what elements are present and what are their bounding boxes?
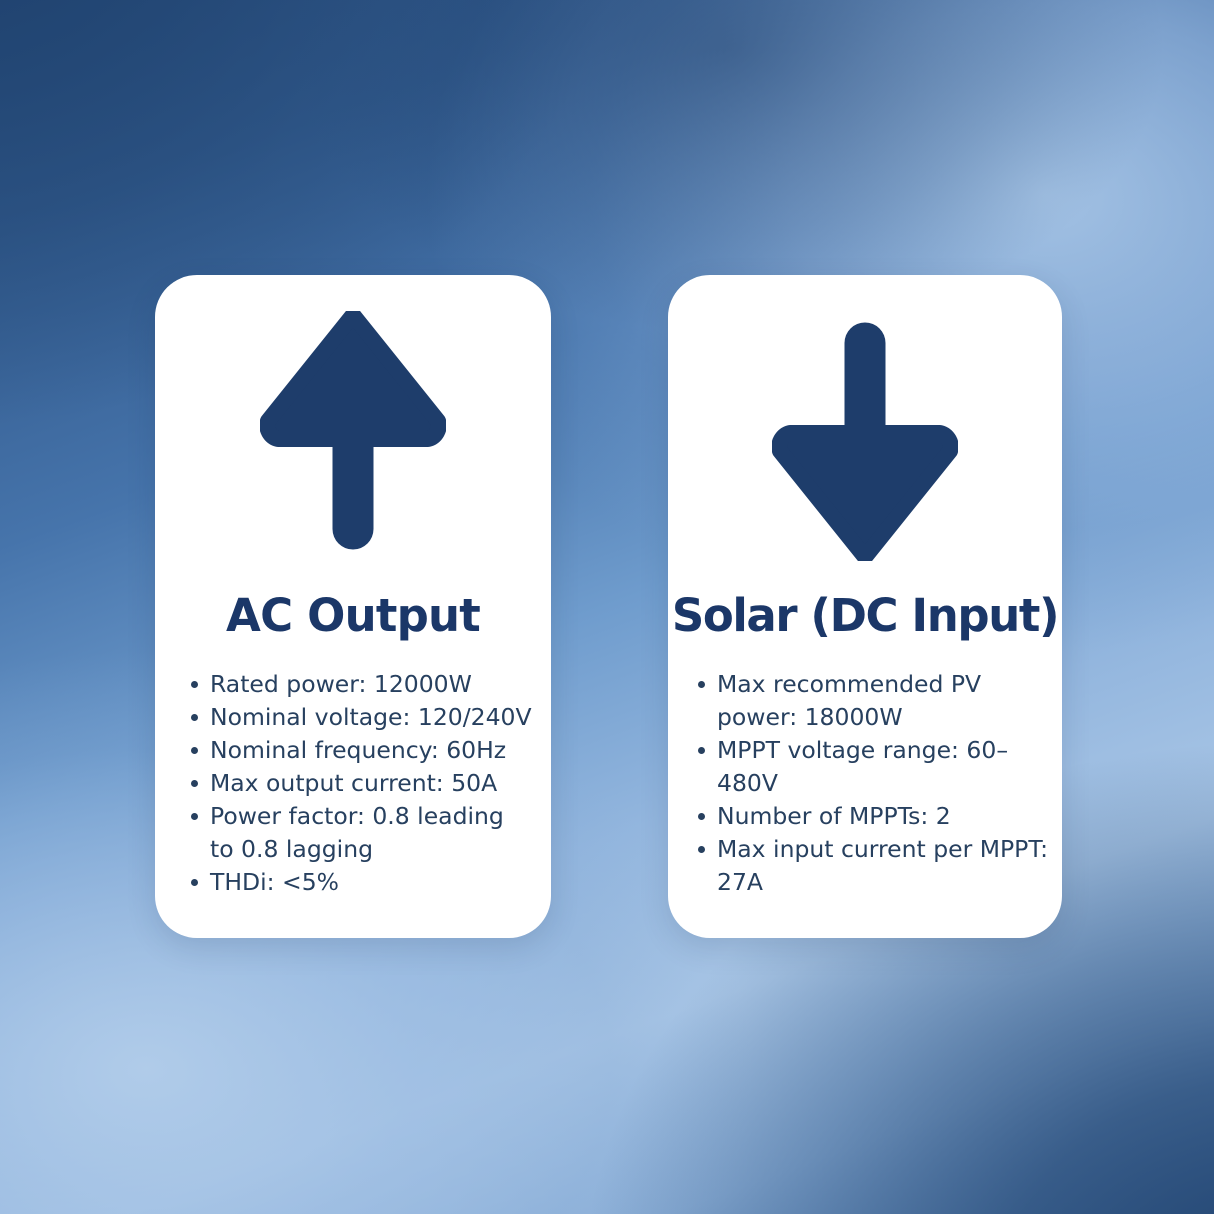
- spec-list-item: Power factor: 0.8 leading to 0.8 lagging: [183, 800, 533, 866]
- spec-list-item: Nominal frequency: 60Hz: [183, 734, 533, 767]
- bullet-marker: [191, 780, 198, 787]
- spec-list-item: Max output current: 50A: [183, 767, 533, 800]
- bullet-marker: [191, 879, 198, 886]
- spec-card-solar-dc-input: Solar (DC Input) Max recommended PV powe…: [668, 275, 1062, 938]
- spec-list-solar-dc-input: Max recommended PV power: 18000W MPPT vo…: [690, 668, 1060, 899]
- bullet-marker: [698, 681, 705, 688]
- spec-text: Nominal voltage: 120/240V: [210, 701, 533, 734]
- spec-card-ac-output: AC Output Rated power: 12000W Nominal vo…: [155, 275, 551, 938]
- arrow-up-icon: [155, 311, 551, 559]
- card-title-ac-output: AC Output: [155, 588, 551, 644]
- spec-list-item: Number of MPPTs: 2: [690, 800, 1060, 833]
- spec-list-item: Nominal voltage: 120/240V: [183, 701, 533, 734]
- spec-list-item: MPPT voltage range: 60–480V: [690, 734, 1060, 800]
- arrow-down-icon: [668, 313, 1062, 561]
- bullet-marker: [698, 747, 705, 754]
- spec-text: Rated power: 12000W: [210, 668, 533, 701]
- spec-text: Max recommended PV power: 18000W: [717, 668, 1060, 734]
- spec-text: Power factor: 0.8 leading to 0.8 lagging: [210, 800, 533, 866]
- spec-list-item: Max input current per MPPT: 27A: [690, 833, 1060, 899]
- spec-list-item: THDi: <5%: [183, 866, 533, 899]
- bullet-marker: [698, 813, 705, 820]
- bullet-marker: [191, 714, 198, 721]
- card-title-solar-dc-input: Solar (DC Input): [668, 588, 1062, 644]
- poster-canvas: AC Output Rated power: 12000W Nominal vo…: [0, 0, 1214, 1214]
- spec-text: Number of MPPTs: 2: [717, 800, 1060, 833]
- spec-text: Max output current: 50A: [210, 767, 533, 800]
- spec-text: Max input current per MPPT: 27A: [717, 833, 1060, 899]
- spec-text: THDi: <5%: [210, 866, 533, 899]
- spec-list-ac-output: Rated power: 12000W Nominal voltage: 120…: [183, 668, 533, 899]
- spec-list-item: Max recommended PV power: 18000W: [690, 668, 1060, 734]
- spec-text: MPPT voltage range: 60–480V: [717, 734, 1060, 800]
- spec-text: Nominal frequency: 60Hz: [210, 734, 533, 767]
- spec-list-item: Rated power: 12000W: [183, 668, 533, 701]
- bullet-marker: [698, 846, 705, 853]
- bullet-marker: [191, 681, 198, 688]
- bullet-marker: [191, 747, 198, 754]
- bullet-marker: [191, 813, 198, 820]
